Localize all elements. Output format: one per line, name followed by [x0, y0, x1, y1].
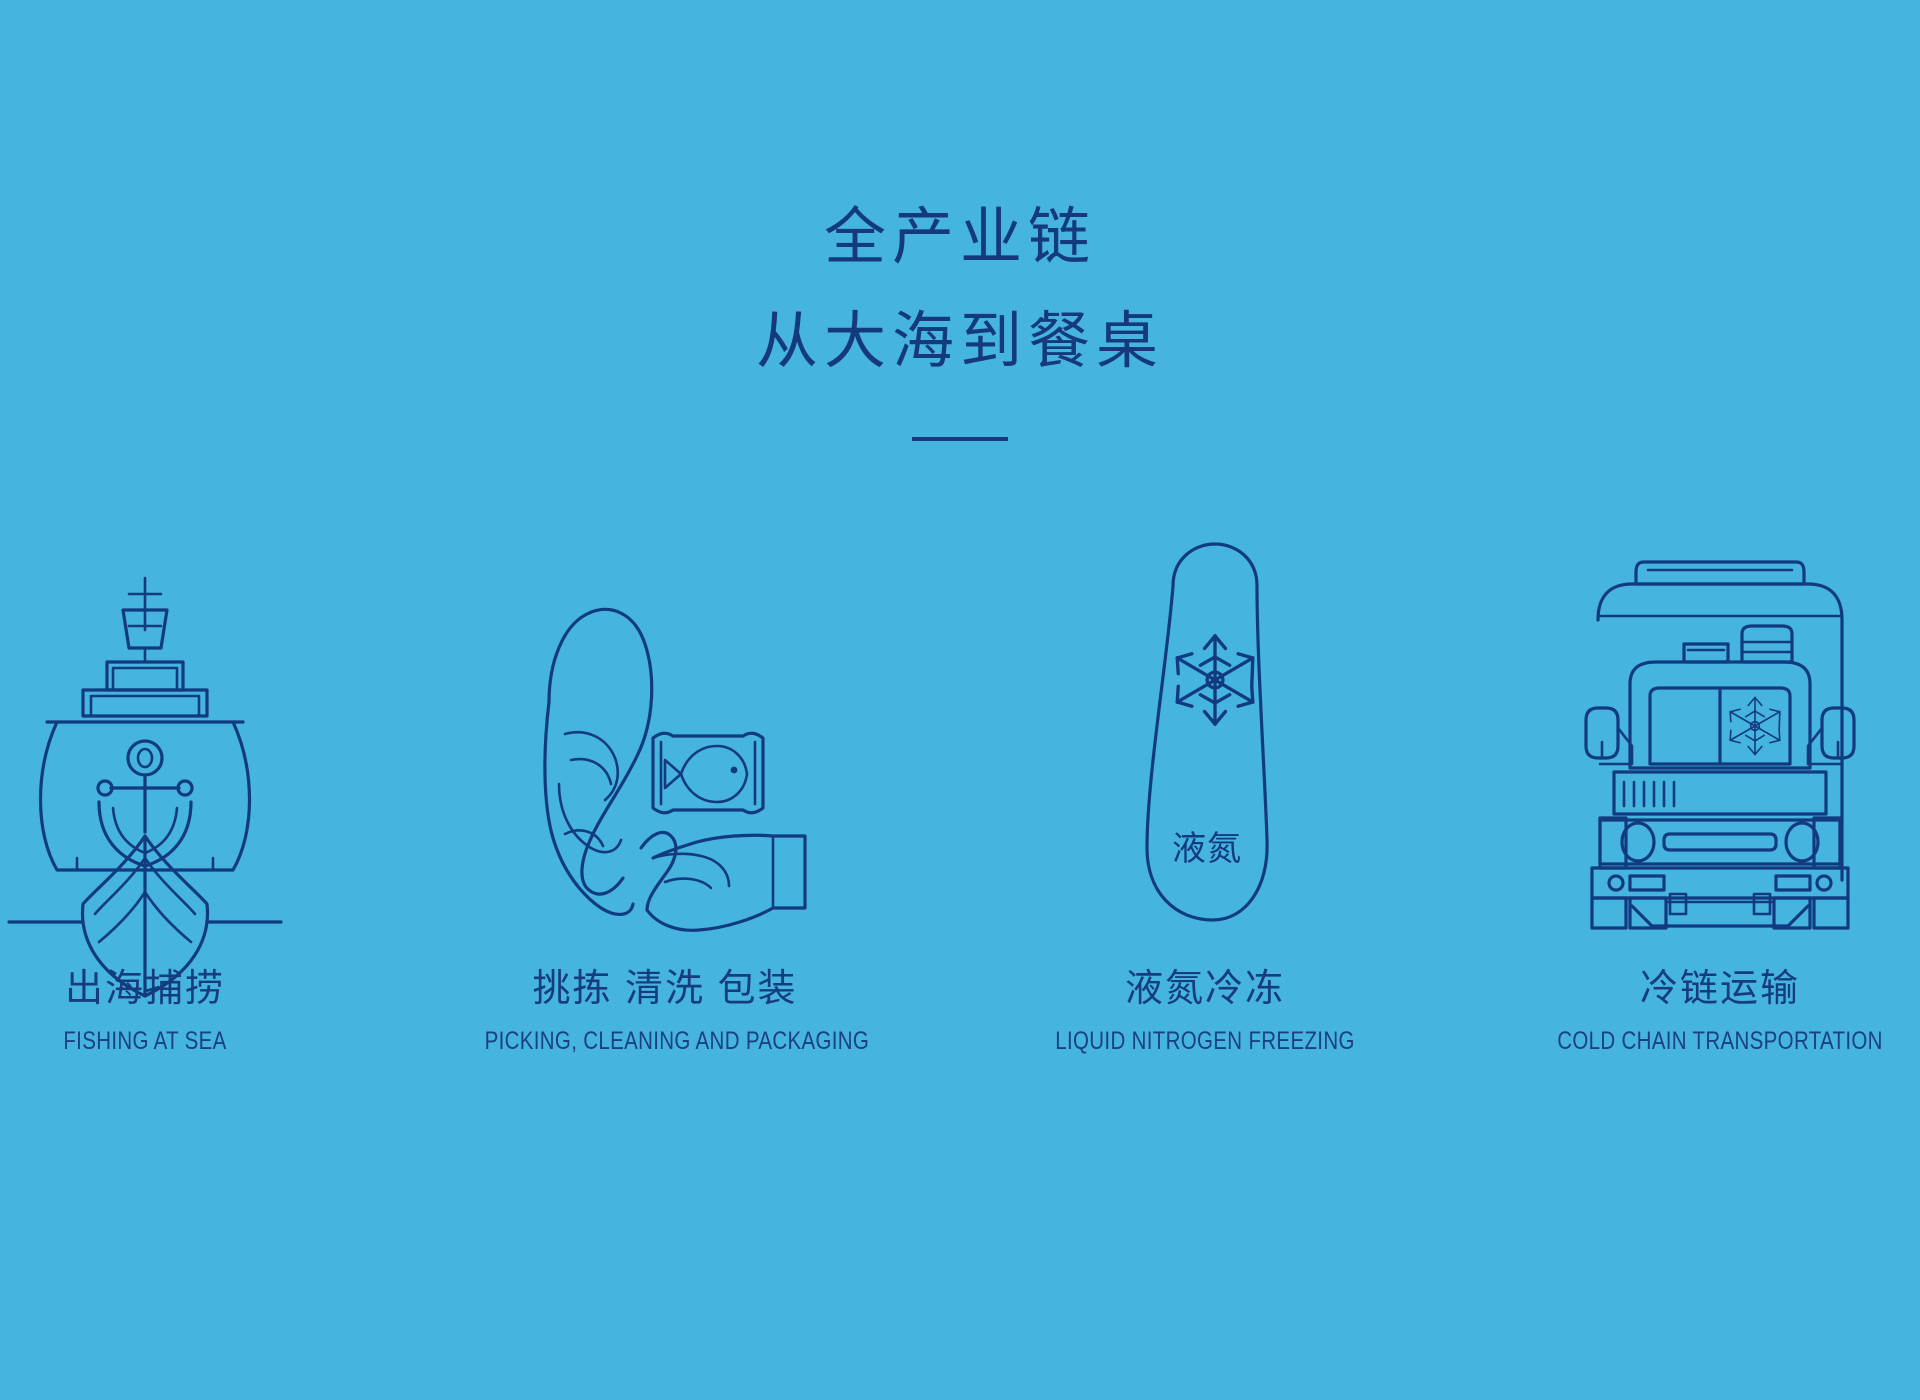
- hands-with-packaged-fish-icon: [505, 590, 825, 930]
- heading-line-1: 全产业链: [0, 186, 1920, 290]
- step-labels: 液氮冷冻 LIQUID NITROGEN FREEZING: [985, 966, 1425, 1056]
- step-labels: 冷链运输 COLD CHAIN TRANSPORTATION: [1500, 966, 1920, 1056]
- liquid-nitrogen-tank-icon-wrap: 液氮: [985, 530, 1425, 930]
- heading-divider-wrap: [0, 428, 1920, 448]
- steps-row: 出海捕捞 FISHING AT SEA: [0, 530, 1920, 1150]
- step-label-en: FISHING AT SEA: [0, 1026, 325, 1056]
- fishing-boat-icon-wrap: [0, 530, 365, 930]
- refrigerated-truck-icon-wrap: [1500, 530, 1920, 930]
- tank-label-text: 液氮: [1172, 830, 1242, 868]
- step-label-cn: 冷链运输: [1500, 966, 1920, 1012]
- step-label-cn: 挑拣 清洗 包装: [445, 966, 885, 1012]
- step-labels: 出海捕捞 FISHING AT SEA: [0, 966, 365, 1056]
- heading-line-2: 从大海到餐桌: [0, 290, 1920, 394]
- refrigerated-truck-icon: [1570, 550, 1870, 930]
- step-picking-cleaning-packaging[interactable]: 挑拣 清洗 包装 PICKING, CLEANING AND PACKAGING: [445, 530, 885, 1150]
- step-label-cn: 出海捕捞: [0, 966, 365, 1012]
- step-fishing-at-sea[interactable]: 出海捕捞 FISHING AT SEA: [0, 530, 365, 1150]
- step-label-cn: 液氮冷冻: [985, 966, 1425, 1012]
- step-liquid-nitrogen-freezing[interactable]: 液氮 液氮冷冻 LIQUID NITROGEN FREEZING: [985, 530, 1425, 1150]
- liquid-nitrogen-tank-icon: 液氮: [1105, 540, 1305, 930]
- step-cold-chain-transportation[interactable]: 冷链运输 COLD CHAIN TRANSPORTATION: [1500, 530, 1920, 1150]
- step-label-en: COLD CHAIN TRANSPORTATION: [1540, 1026, 1901, 1056]
- step-label-en: LIQUID NITROGEN FREEZING: [1025, 1026, 1386, 1056]
- fishing-boat-icon: [0, 570, 295, 930]
- heading-divider-rule: [912, 437, 1008, 441]
- step-label-en: PICKING, CLEANING AND PACKAGING: [485, 1026, 846, 1056]
- infographic-page: 全产业链 从大海到餐桌: [0, 0, 1920, 1400]
- heading-block: 全产业链 从大海到餐桌: [0, 186, 1920, 448]
- hands-with-packaged-fish-icon-wrap: [445, 530, 885, 930]
- step-labels: 挑拣 清洗 包装 PICKING, CLEANING AND PACKAGING: [445, 966, 885, 1056]
